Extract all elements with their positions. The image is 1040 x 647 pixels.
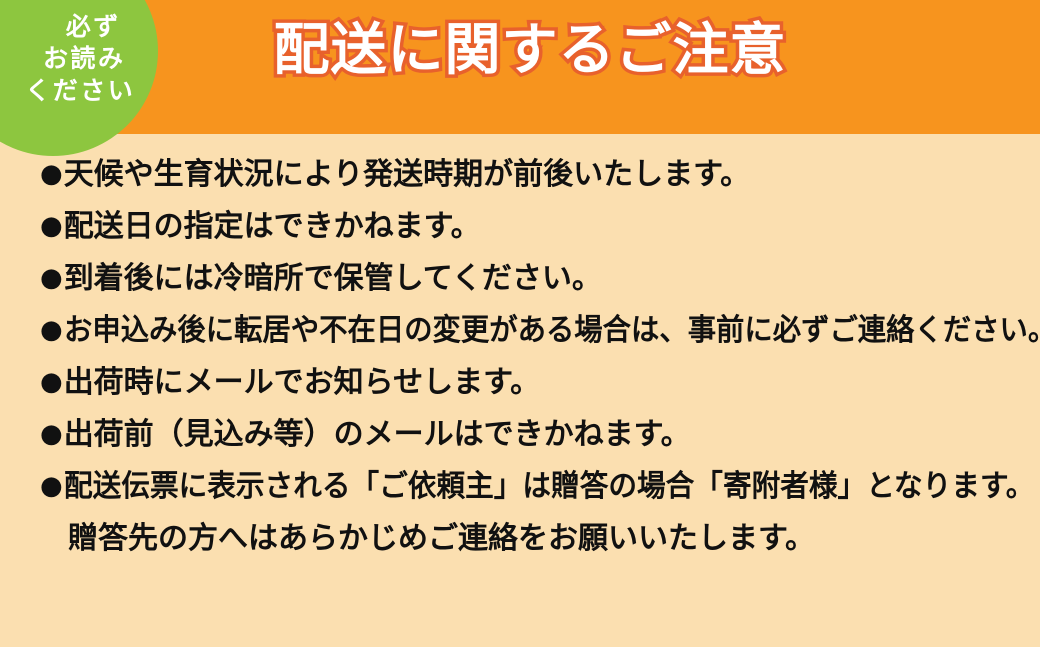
list-item: ●出荷前（見込み等）のメールはできかねます。: [0, 420, 1040, 450]
list-item: ●配送日の指定はできかねます。: [0, 212, 1040, 242]
list-item: ●お申込み後に転居や不在日の変更がある場合は、事前に必ずご連絡ください。: [0, 316, 1040, 346]
list-item-text: 出荷前（見込み等）のメールはできかねます。: [64, 420, 691, 450]
bullet-icon: ●: [40, 213, 63, 239]
list-item-text: 配送日の指定はできかねます。: [64, 212, 481, 242]
bullet-icon: ●: [40, 473, 63, 499]
bullet-icon: ●: [40, 265, 63, 291]
list-item: ●到着後には冷暗所で保管してください。: [0, 264, 1040, 294]
list-item-text: 出荷時にメールでお知らせします。: [64, 368, 540, 398]
list-item-text: 贈答先の方へはあらかじめご連絡をお願いいたします。: [68, 524, 815, 554]
list-item-text: お申込み後に転居や不在日の変更がある場合は、事前に必ずご連絡ください。: [64, 316, 1040, 346]
list-item-text: 天候や生育状況により発送時期が前後いたします。: [64, 160, 750, 190]
bullet-icon: ●: [40, 369, 63, 395]
notice-list: ●天候や生育状況により発送時期が前後いたします。 ●配送日の指定はできかねます。…: [0, 160, 1040, 576]
bullet-icon: ●: [40, 317, 63, 343]
list-item-text: 到着後には冷暗所で保管してください。: [64, 264, 602, 294]
list-item: ●出荷時にメールでお知らせします。: [0, 368, 1040, 398]
list-item-continuation: 贈答先の方へはあらかじめご連絡をお願いいたします。: [0, 524, 1040, 554]
list-item: ●配送伝票に表示される「ご依頼主」は贈答の場合「寄附者様」となります。: [0, 472, 1040, 502]
list-item-text: 配送伝票に表示される「ご依頼主」は贈答の場合「寄附者様」となります。: [64, 472, 1034, 502]
bullet-icon: ●: [40, 421, 63, 447]
bullet-icon: ●: [40, 161, 63, 187]
shipping-notice-poster: 配送に関するご注意 必ず お読み ください ●天候や生育状況により発送時期が前後…: [0, 0, 1040, 647]
list-item: ●天候や生育状況により発送時期が前後いたします。: [0, 160, 1040, 190]
